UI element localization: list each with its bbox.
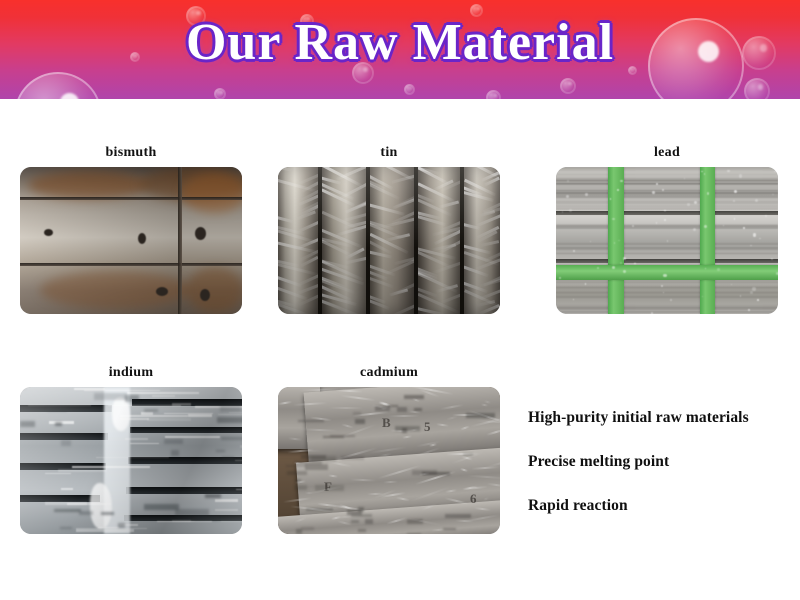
feature-item: High-purity initial raw materials [528, 409, 792, 427]
lead-speckle-texture [733, 200, 735, 202]
lead-grain-texture [556, 170, 778, 171]
lead-speckle-texture [618, 240, 619, 241]
lead-speckle-texture [739, 174, 742, 177]
cadmium-shadow-texture [341, 456, 364, 460]
material-label-cadmium: cadmium [278, 365, 500, 381]
material-card-tin: tin [278, 145, 500, 314]
cadmium-shadow-texture [353, 412, 361, 414]
lead-speckle-texture [585, 193, 587, 195]
feature-item: Precise melting point [528, 453, 792, 471]
material-card-bismuth: bismuth [20, 145, 242, 314]
bubble-decoration-icon [404, 84, 415, 95]
lead-speckle-texture [663, 274, 666, 277]
lead-speckle-texture [664, 219, 666, 221]
cadmium-shadow-texture [295, 479, 300, 482]
cadmium-shadow-texture [397, 407, 407, 412]
bubble-decoration-icon [486, 90, 501, 99]
cadmium-crystal-texture [455, 519, 474, 522]
bubble-decoration-icon [14, 72, 102, 99]
lead-grain-texture [556, 307, 778, 310]
lead-speckle-texture [662, 189, 664, 191]
lead-speckle-texture [614, 242, 615, 243]
lead-speckle-texture [667, 240, 668, 241]
lead-speckle-texture [717, 268, 720, 271]
cadmium-crystal-texture [280, 449, 323, 452]
cadmium-stamp: 5 [424, 419, 431, 435]
material-label-lead: lead [556, 145, 778, 161]
lead-speckle-texture [687, 203, 689, 205]
cadmium-shadow-texture [311, 456, 336, 462]
material-photo-indium [20, 387, 242, 534]
lead-grain-texture [556, 287, 778, 288]
cadmium-shadow-texture [404, 395, 424, 400]
lead-grain-texture [556, 183, 778, 184]
cadmium-stamp: 6 [470, 491, 477, 507]
lead-speckle-texture [750, 291, 753, 294]
material-label-indium: indium [20, 365, 242, 381]
cadmium-shadow-texture [286, 465, 305, 467]
lead-grain-texture [556, 208, 778, 209]
material-card-cadmium: cadmium B 5 F 6 [278, 365, 500, 534]
cadmium-shadow-texture [287, 471, 307, 475]
lead-grain-texture [556, 292, 778, 293]
cadmium-shadow-texture [466, 413, 495, 418]
lead-speckle-texture [694, 201, 696, 203]
material-photo-tin [278, 167, 500, 314]
cadmium-shadow-texture [306, 508, 333, 511]
cadmium-shadow-texture [365, 519, 373, 524]
lead-speckle-texture [652, 191, 655, 194]
lead-grain-texture [556, 311, 778, 313]
lead-speckle-texture [702, 296, 703, 297]
material-card-lead: lead [556, 145, 778, 314]
lead-speckle-texture [765, 215, 767, 217]
lead-speckle-texture [656, 222, 658, 224]
cadmium-shadow-texture [402, 428, 407, 433]
cadmium-shadow-texture [355, 419, 365, 424]
material-label-tin: tin [278, 145, 500, 161]
lead-speckle-texture [590, 241, 591, 242]
cadmium-shadow-texture [412, 470, 438, 474]
lead-speckle-texture [566, 195, 569, 198]
lead-speckle-texture [701, 171, 702, 172]
lead-speckle-texture [651, 312, 653, 314]
material-photo-lead [556, 167, 778, 314]
cadmium-shadow-texture [414, 408, 421, 412]
material-card-indium: indium [20, 365, 242, 534]
cadmium-shadow-texture [351, 520, 358, 523]
lead-grain-texture [556, 190, 778, 191]
lead-grain-texture [556, 253, 778, 254]
feature-list: High-purity initial raw materials Precis… [528, 409, 792, 515]
lead-speckle-texture [705, 268, 706, 269]
lead-grain-texture [556, 224, 778, 225]
cadmium-crystal-texture [329, 407, 363, 409]
lead-grain-texture [556, 282, 778, 283]
lead-speckle-texture [759, 238, 761, 240]
lead-speckle-texture [559, 277, 561, 279]
lead-grain-texture [556, 174, 778, 175]
material-photo-cadmium: B 5 F 6 [278, 387, 500, 534]
lead-grain-texture [556, 192, 778, 194]
lead-speckle-texture [634, 263, 635, 264]
feature-item: Rapid reaction [528, 497, 792, 515]
lead-speckle-texture [734, 190, 737, 193]
lead-grain-texture [556, 167, 778, 168]
lead-speckle-texture [753, 233, 756, 236]
lead-grain-texture [556, 201, 778, 204]
lead-speckle-texture [757, 299, 759, 301]
material-label-bismuth: bismuth [20, 145, 242, 161]
lead-grain-texture [556, 178, 778, 181]
material-photo-bismuth [20, 167, 242, 314]
lead-grain-texture [556, 296, 778, 298]
cadmium-shadow-texture [315, 485, 344, 491]
lead-speckle-texture [610, 198, 611, 199]
lead-speckle-texture [620, 180, 623, 183]
lead-speckle-texture [740, 295, 741, 296]
cadmium-shadow-texture [298, 420, 324, 422]
cadmium-shadow-texture [301, 527, 314, 531]
lead-speckle-texture [693, 228, 696, 231]
cadmium-shadow-texture [407, 519, 423, 524]
cadmium-shadow-texture [443, 528, 456, 531]
cadmium-shadow-texture [351, 514, 372, 517]
lead-speckle-texture [771, 258, 773, 260]
lead-speckle-texture [573, 299, 574, 300]
lead-speckle-texture [670, 299, 671, 300]
cadmium-shadow-texture [463, 453, 472, 456]
lead-speckle-texture [727, 170, 729, 172]
lead-grain-texture [556, 195, 778, 198]
lead-grain-texture [556, 243, 778, 245]
lead-speckle-texture [776, 272, 778, 275]
lead-speckle-texture [734, 218, 736, 220]
lead-speckle-texture [743, 227, 745, 229]
lead-speckle-texture [752, 287, 755, 290]
cadmium-shadow-texture [358, 529, 366, 532]
bubble-decoration-icon [560, 78, 576, 94]
page-banner: Our Raw Material [0, 0, 800, 99]
lead-grain-texture [556, 247, 778, 250]
cadmium-shadow-texture [294, 485, 307, 491]
page-title: Our Raw Material [0, 12, 800, 74]
lead-speckle-texture [774, 171, 776, 173]
bubble-decoration-icon [214, 88, 226, 99]
lead-grain-texture [556, 209, 778, 210]
bubble-decoration-icon [744, 78, 770, 99]
cadmium-shadow-texture [323, 436, 344, 438]
cadmium-shadow-texture [395, 426, 420, 430]
content-area: bismuth tin lead [0, 99, 800, 600]
cadmium-shadow-texture [407, 533, 420, 534]
cadmium-shadow-texture [445, 514, 471, 518]
cadmium-shadow-texture [375, 406, 390, 411]
lead-speckle-texture [750, 245, 751, 246]
